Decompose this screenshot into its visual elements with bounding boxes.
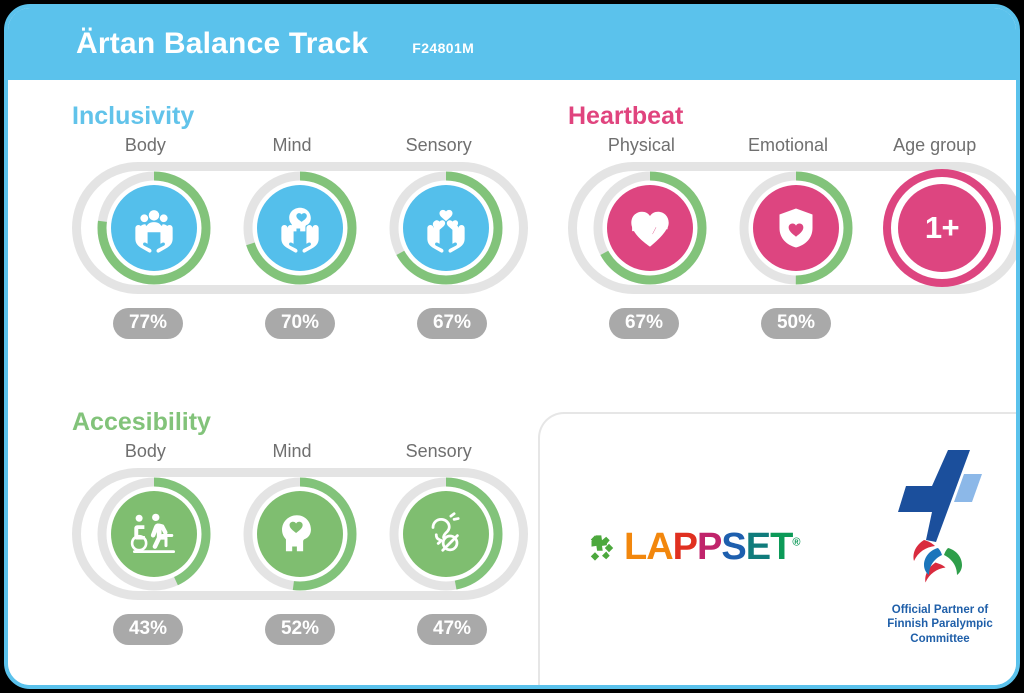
label-accessibility-sensory: Sensory — [365, 441, 512, 462]
label-inclusivity-mind: Mind — [219, 135, 366, 156]
label-accessibility-mind: Mind — [219, 441, 366, 462]
section-title-inclusivity: Inclusivity — [72, 102, 528, 131]
labels-inclusivity: Body Mind Sensory — [72, 135, 512, 156]
status-badge-accessibility-body: 43% — [113, 614, 183, 645]
section-title-accessibility: Accesibility — [72, 408, 528, 437]
labels-accessibility: Body Mind Sensory — [72, 441, 512, 462]
paralympic-emblem-icon — [884, 444, 996, 594]
gauge-accessibility-sensory — [387, 475, 505, 593]
lappset-letter-6: E — [746, 526, 770, 568]
labels-heartbeat: Physical Emotional Age group — [568, 135, 1008, 156]
paralympic-caption-line2: Finnish Paralympic — [870, 617, 1010, 631]
gauge-inclusivity-body — [95, 169, 213, 287]
pct-row-accessibility: 43% 52% 47% — [72, 614, 528, 645]
page-title: Ärtan Balance Track — [76, 27, 368, 61]
gauge-group-heartbeat: 1+ — [568, 162, 1020, 294]
paralympic-caption-line3: Committee — [870, 632, 1010, 646]
gauge-slot-heartbeat-agegroup[interactable]: 1+ — [869, 171, 1015, 285]
lappset-logo: LAPPSET® — [588, 526, 799, 569]
screen: Ärtan Balance Track F24801M Inclusivity … — [0, 0, 1024, 693]
lappset-letter-7: T — [770, 526, 792, 568]
header-bar: Ärtan Balance Track F24801M — [8, 8, 1016, 80]
gauge-group-accessibility — [72, 468, 528, 600]
product-code: F24801M — [412, 32, 474, 56]
hands-holding-people-icon — [111, 185, 197, 271]
gauge-heartbeat-physical — [591, 169, 709, 287]
section-title-heartbeat: Heartbeat — [568, 102, 1020, 131]
lappset-letter-2: A — [646, 526, 672, 568]
pct-row-heartbeat: 67% 50% — [568, 308, 1020, 339]
label-heartbeat-physical: Physical — [568, 135, 715, 156]
gauge-slot-inclusivity-body[interactable] — [81, 171, 227, 285]
lappset-wordmark: LAPPSET® — [624, 526, 799, 569]
paralympic-caption: Official Partner of Finnish Paralympic C… — [870, 603, 1010, 646]
lappset-letter-5: S — [721, 526, 745, 568]
heart-pulse-icon — [607, 185, 693, 271]
gauge-heartbeat-emotional — [737, 169, 855, 287]
hands-holding-hearts-icon — [403, 185, 489, 271]
logo-panel: LAPPSET® Official Partner of Finnis — [538, 412, 1020, 689]
lappset-registered-mark: ® — [792, 536, 799, 548]
status-badge-heartbeat-emotional: 50% — [761, 308, 831, 339]
lappset-letter-3: P — [673, 526, 697, 568]
gauge-heartbeat-agegroup: 1+ — [883, 169, 1001, 287]
status-badge-inclusivity-body: 77% — [113, 308, 183, 339]
gauge-slot-heartbeat-physical[interactable] — [577, 171, 723, 285]
hearing-vision-impaired-icon — [403, 491, 489, 577]
age-group-value: 1+ — [925, 210, 959, 246]
head-heart-icon — [257, 491, 343, 577]
shield-heart-icon — [753, 185, 839, 271]
gauge-accessibility-body — [95, 475, 213, 593]
lappset-letter-4: P — [697, 526, 721, 568]
status-badge-accessibility-sensory: 47% — [417, 614, 487, 645]
lappset-letter-1: L — [624, 526, 646, 568]
pct-row-inclusivity: 77% 70% 67% — [72, 308, 528, 339]
label-inclusivity-sensory: Sensory — [365, 135, 512, 156]
label-inclusivity-body: Body — [72, 135, 219, 156]
gauge-slot-inclusivity-mind[interactable] — [227, 171, 373, 285]
gauge-inclusivity-mind — [241, 169, 359, 287]
section-heartbeat: Heartbeat Physical Emotional Age group — [568, 102, 1020, 339]
gauge-slot-accessibility-mind[interactable] — [227, 477, 373, 591]
gauge-inclusivity-sensory — [387, 169, 505, 287]
section-accessibility: Accesibility Body Mind Sensory — [72, 408, 528, 645]
status-badge-inclusivity-sensory: 67% — [417, 308, 487, 339]
status-badge-heartbeat-physical: 67% — [609, 308, 679, 339]
label-accessibility-body: Body — [72, 441, 219, 462]
gauge-slot-accessibility-sensory[interactable] — [373, 477, 519, 591]
age-badge-icon: 1+ — [883, 169, 1001, 287]
label-heartbeat-agegroup: Age group — [861, 135, 1008, 156]
label-heartbeat-emotional: Emotional — [715, 135, 862, 156]
paralympic-caption-line1: Official Partner of — [870, 603, 1010, 617]
hands-holding-head-heart-icon — [257, 185, 343, 271]
dashboard-card: Ärtan Balance Track F24801M Inclusivity … — [4, 4, 1020, 689]
gauge-slot-heartbeat-emotional[interactable] — [723, 171, 869, 285]
gauge-accessibility-mind — [241, 475, 359, 593]
clover-icon — [588, 534, 616, 562]
gauge-slot-accessibility-body[interactable] — [81, 477, 227, 591]
paralympic-logo: Official Partner of Finnish Paralympic C… — [870, 444, 1010, 646]
wheelchair-accessible-icon — [111, 491, 197, 577]
status-badge-inclusivity-mind: 70% — [265, 308, 335, 339]
section-inclusivity: Inclusivity Body Mind Sensory — [72, 102, 528, 339]
gauge-group-inclusivity — [72, 162, 528, 294]
status-badge-accessibility-mind: 52% — [265, 614, 335, 645]
gauge-slot-inclusivity-sensory[interactable] — [373, 171, 519, 285]
dashboard-body: Inclusivity Body Mind Sensory — [8, 80, 1016, 685]
